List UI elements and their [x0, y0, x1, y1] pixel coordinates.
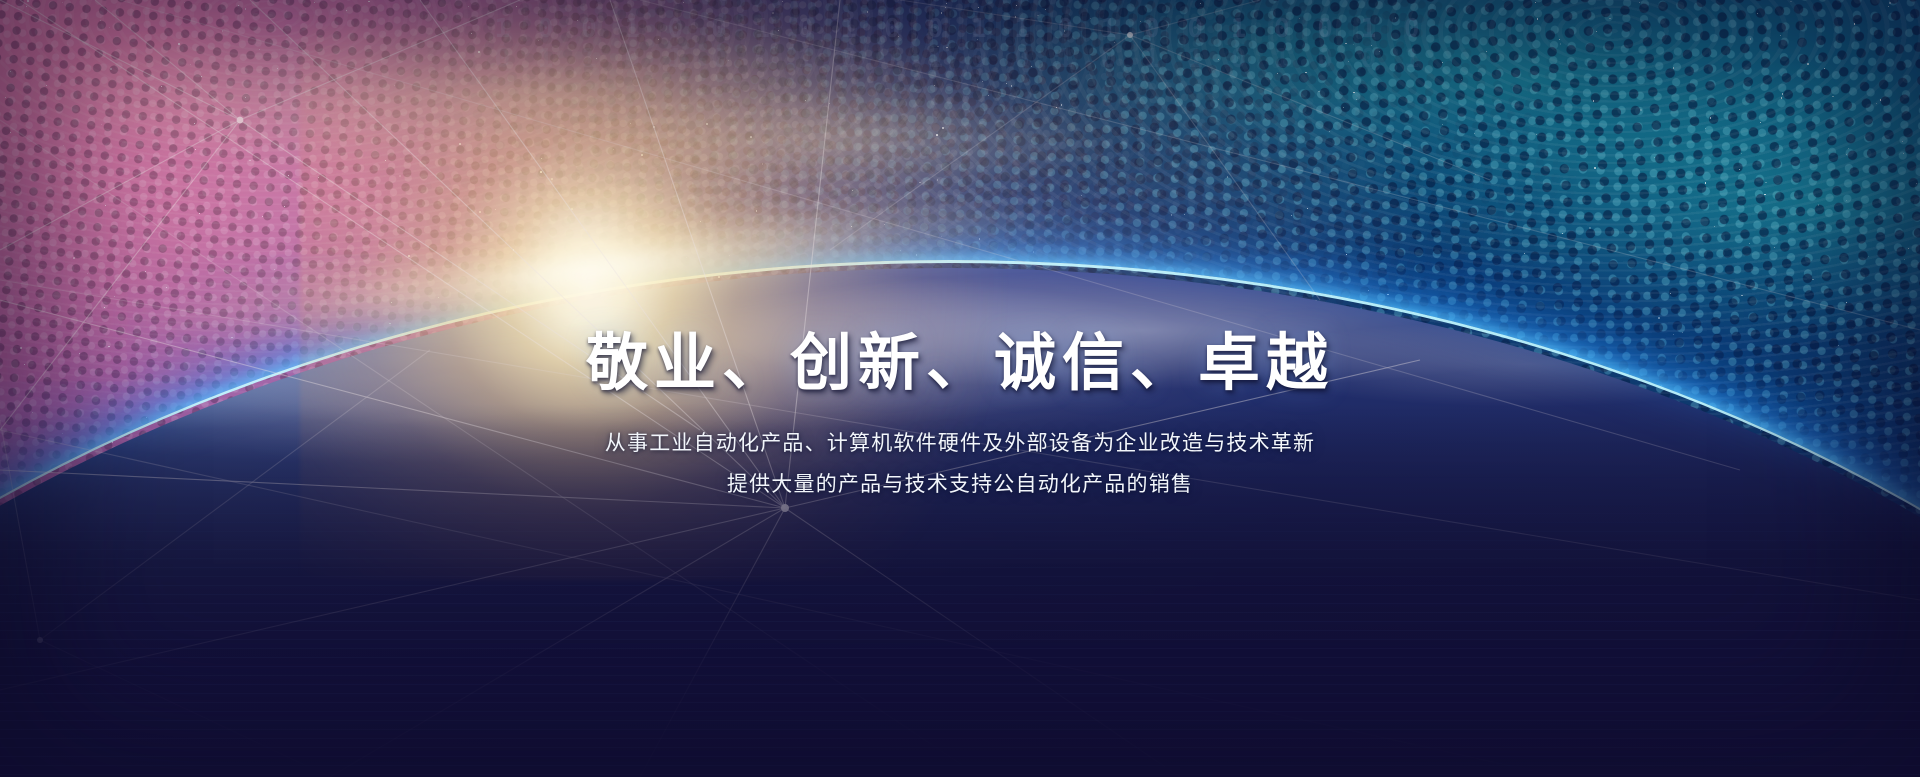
hero-banner: 1 0 0 1 0 0 1 0 1 0 0 1 1 0 1 0 0 1 0 0 … [0, 0, 1920, 777]
banner-subtitle-line-1: 从事工业自动化产品、计算机软件硬件及外部设备为企业改造与技术革新 [0, 423, 1920, 464]
banner-copy-block: 敬业、创新、诚信、卓越 从事工业自动化产品、计算机软件硬件及外部设备为企业改造与… [0, 330, 1920, 505]
banner-headline: 敬业、创新、诚信、卓越 [0, 330, 1920, 395]
banner-subtitle-block: 从事工业自动化产品、计算机软件硬件及外部设备为企业改造与技术革新 提供大量的产品… [0, 423, 1920, 505]
banner-subtitle-line-2: 提供大量的产品与技术支持公自动化产品的销售 [0, 464, 1920, 505]
